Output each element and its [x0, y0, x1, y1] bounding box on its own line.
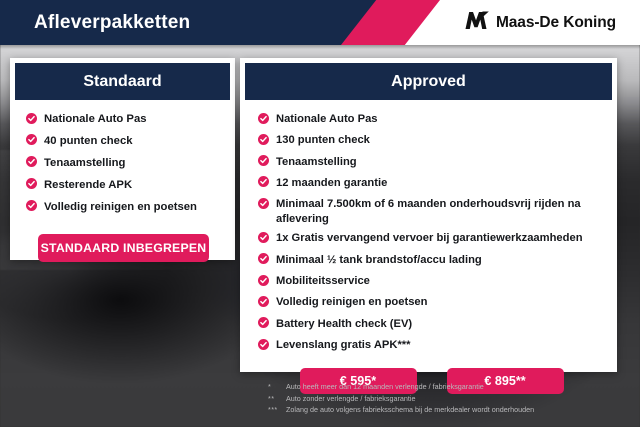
page-header: Afleverpakketten Maas-De Koning [0, 0, 640, 45]
check-circle-icon [26, 113, 37, 128]
feature-item: Tenaamstelling [258, 155, 605, 171]
feature-label: Volledig reinigen en poetsen [44, 200, 197, 214]
check-circle-icon [258, 155, 269, 170]
feature-item: 40 punten check [26, 134, 221, 150]
feature-list-approved: Nationale Auto Pas130 punten checkTenaam… [258, 112, 605, 354]
feature-label: Minimaal ½ tank brandstof/accu lading [276, 253, 482, 267]
footnote-marker: *** [268, 404, 286, 416]
feature-label: 130 punten check [276, 133, 370, 147]
feature-list-standaard: Nationale Auto Pas40 punten checkTenaams… [26, 112, 221, 216]
card-body-standaard: Nationale Auto Pas40 punten checkTenaams… [10, 100, 235, 262]
standaard-inbegrepen-button[interactable]: STANDAARD INBEGREPEN [38, 234, 209, 262]
package-card-approved: Approved Nationale Auto Pas130 punten ch… [240, 58, 617, 372]
footnote-marker: * [268, 381, 286, 393]
brand-name: Maas-De Koning [496, 14, 616, 32]
check-circle-icon [258, 296, 269, 311]
feature-label: 12 maanden garantie [276, 176, 387, 190]
check-circle-icon [258, 317, 269, 332]
feature-label: Tenaamstelling [276, 155, 357, 169]
feature-item: Tenaamstelling [26, 156, 221, 172]
maas-de-koning-m-logo-icon [463, 11, 489, 35]
check-circle-icon [26, 134, 37, 149]
check-circle-icon [258, 232, 269, 247]
feature-item: Nationale Auto Pas [258, 112, 605, 128]
feature-item: Nationale Auto Pas [26, 112, 221, 128]
feature-item: Battery Health check (EV) [258, 317, 605, 333]
package-card-standaard: Standaard Nationale Auto Pas40 punten ch… [10, 58, 235, 260]
card-heading-approved: Approved [245, 63, 612, 100]
feature-label: Battery Health check (EV) [276, 317, 412, 331]
feature-item: Minimaal ½ tank brandstof/accu lading [258, 253, 605, 269]
page-title: Afleverpakketten [34, 0, 190, 45]
check-circle-icon [258, 176, 269, 191]
check-circle-icon [258, 253, 269, 268]
check-circle-icon [258, 198, 269, 213]
footnotes: *Auto heeft meer dan 12 maanden verlengd… [268, 381, 628, 416]
check-circle-icon [26, 178, 37, 193]
footnote-marker: ** [268, 393, 286, 405]
check-circle-icon [258, 113, 269, 128]
feature-item: 12 maanden garantie [258, 176, 605, 192]
feature-label: 1x Gratis vervangend vervoer bij garanti… [276, 231, 583, 245]
feature-label: Nationale Auto Pas [276, 112, 378, 126]
feature-item: Mobiliteitsservice [258, 274, 605, 290]
footnote: ***Zolang de auto volgens fabrieksschema… [268, 404, 628, 416]
check-circle-icon [26, 200, 37, 215]
card-heading-standaard: Standaard [15, 63, 230, 100]
footnote-text: Zolang de auto volgens fabrieksschema bi… [286, 404, 534, 416]
footnote-text: Auto heeft meer dan 12 maanden verlengde… [286, 381, 484, 393]
feature-item: Resterende APK [26, 178, 221, 194]
feature-label: Minimaal 7.500km of 6 maanden onderhouds… [276, 197, 605, 226]
feature-label: Volledig reinigen en poetsen [276, 295, 427, 309]
footnote: **Auto zonder verlengde / fabrieksgarant… [268, 393, 628, 405]
feature-label: Tenaamstelling [44, 156, 125, 170]
feature-label: Resterende APK [44, 178, 132, 192]
check-circle-icon [258, 339, 269, 354]
feature-item: Minimaal 7.500km of 6 maanden onderhouds… [258, 197, 605, 226]
footnote: *Auto heeft meer dan 12 maanden verlengd… [268, 381, 628, 393]
feature-item: Volledig reinigen en poetsen [258, 295, 605, 311]
feature-label: Nationale Auto Pas [44, 112, 147, 126]
footnote-text: Auto zonder verlengde / fabrieksgarantie [286, 393, 415, 405]
card-body-approved: Nationale Auto Pas130 punten checkTenaam… [240, 100, 617, 394]
feature-item: Volledig reinigen en poetsen [26, 200, 221, 216]
feature-item: 130 punten check [258, 133, 605, 149]
feature-label: Levenslang gratis APK*** [276, 338, 411, 352]
check-circle-icon [258, 134, 269, 149]
brand-lockup: Maas-De Koning [463, 0, 616, 45]
check-circle-icon [258, 275, 269, 290]
feature-item: 1x Gratis vervangend vervoer bij garanti… [258, 231, 605, 247]
header-dropshadow [0, 45, 640, 49]
check-circle-icon [26, 156, 37, 171]
feature-item: Levenslang gratis APK*** [258, 338, 605, 354]
feature-label: 40 punten check [44, 134, 133, 148]
feature-label: Mobiliteitsservice [276, 274, 370, 288]
